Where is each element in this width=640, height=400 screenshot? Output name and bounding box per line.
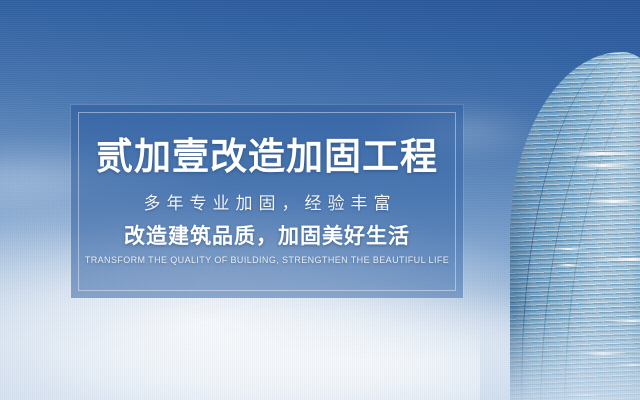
panel-content: 贰加壹改造加固工程 多年专业加固，经验丰富 改造建筑品质，加固美好生活 TRAN… <box>71 105 463 298</box>
headline-panel: 贰加壹改造加固工程 多年专业加固，经验丰富 改造建筑品质，加固美好生活 TRAN… <box>71 105 463 298</box>
tagline-text: 改造建筑品质，加固美好生活 <box>124 226 410 247</box>
banner-stage: 贰加壹改造加固工程 多年专业加固，经验丰富 改造建筑品质，加固美好生活 TRAN… <box>0 0 640 400</box>
subheadline-text: 多年专业加固，经验丰富 <box>138 195 397 212</box>
english-caption: TRANSFORM THE QUALITY OF BUILDING, STREN… <box>85 256 449 265</box>
headline-title: 贰加壹改造加固工程 <box>96 138 438 175</box>
